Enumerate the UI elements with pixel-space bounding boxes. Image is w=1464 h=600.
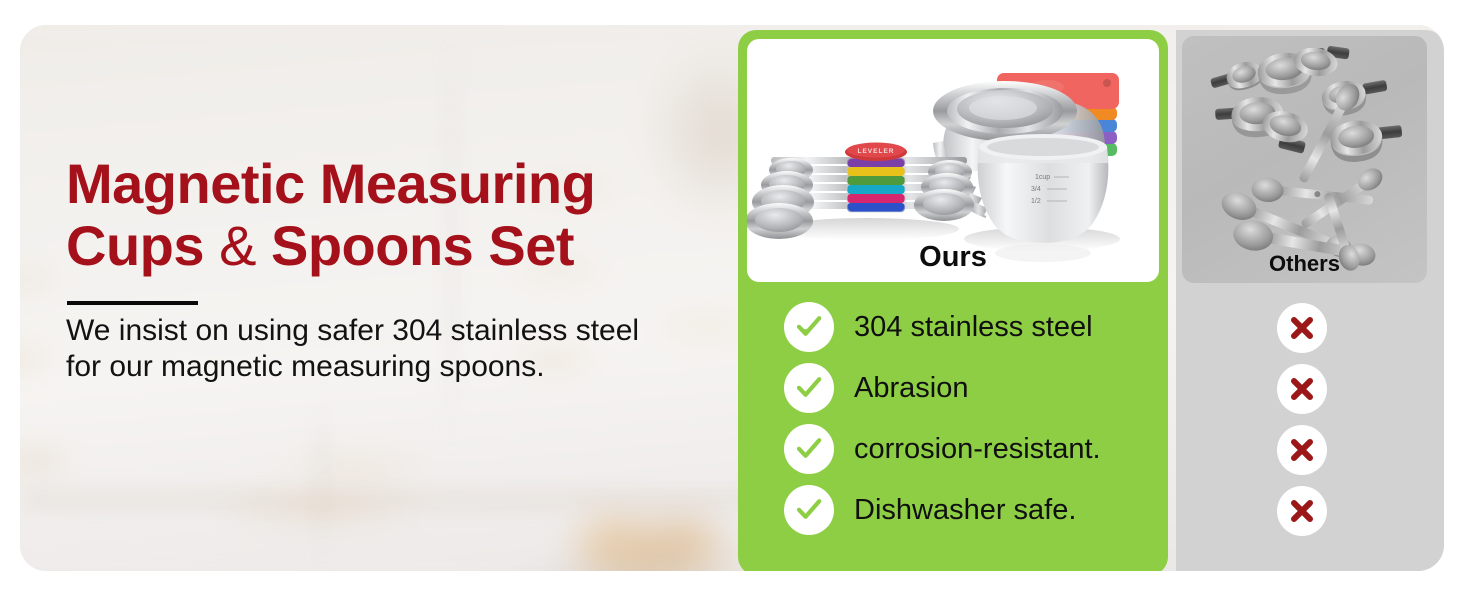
cross-row: [1176, 358, 1427, 419]
feature-label: Abrasion: [854, 371, 968, 405]
svg-text:3/4: 3/4: [1031, 186, 1041, 193]
feature-label: Dishwasher safe.: [854, 493, 1076, 527]
headline-line-2-part-b: Spoons Set: [256, 214, 574, 277]
background-counter-edge: [20, 495, 780, 509]
others-panel: Others: [1176, 30, 1444, 571]
promo-banner: Magnetic Measuring Cups & Spoons Set We …: [20, 25, 1444, 571]
feature-row: corrosion-resistant.: [738, 418, 1168, 479]
svg-text:1/2: 1/2: [1031, 198, 1041, 205]
headline-line-1: Magnetic Measuring: [66, 152, 595, 215]
competitor-measuring-set-illustration: [1182, 36, 1427, 283]
feature-row: Dishwasher safe.: [738, 479, 1168, 540]
cross-row: [1176, 419, 1427, 480]
cross-icon: [1277, 425, 1327, 475]
cross-row: [1176, 480, 1427, 541]
feature-row: 304 stainless steel: [738, 296, 1168, 357]
leveler-label: LEVELER: [858, 148, 895, 155]
cross-icon: [1277, 364, 1327, 414]
svg-text:1cup: 1cup: [1035, 174, 1050, 181]
ours-panel: 1cup 3/4 1/2: [738, 30, 1168, 571]
leveler-cap: LEVELER: [845, 143, 907, 162]
others-label: Others: [1182, 251, 1427, 277]
check-icon: [784, 424, 834, 474]
title-divider: [67, 301, 198, 305]
cross-icon: [1277, 303, 1327, 353]
cross-icon: [1277, 486, 1327, 536]
check-icon: [784, 363, 834, 413]
ampersand: &: [219, 214, 256, 277]
ours-product-photo: 1cup 3/4 1/2: [747, 39, 1159, 282]
subcopy-text: We insist on using safer 304 stainless s…: [66, 313, 666, 385]
background-seam-secondary: [320, 385, 323, 571]
others-product-photo: Others: [1182, 36, 1427, 283]
others-feature-list: [1176, 297, 1427, 541]
feature-row: Abrasion: [738, 357, 1168, 418]
headline-line-2-part-a: Cups: [66, 214, 219, 277]
ours-feature-list: 304 stainless steel Abrasion corrosion-r…: [738, 296, 1168, 540]
ours-label: Ours: [747, 241, 1159, 274]
check-icon: [784, 302, 834, 352]
feature-label: corrosion-resistant.: [854, 432, 1101, 466]
check-icon: [784, 485, 834, 535]
copy-block: Magnetic Measuring Cups & Spoons Set We …: [66, 153, 686, 385]
feature-label: 304 stainless steel: [854, 310, 1093, 344]
page-title: Magnetic Measuring Cups & Spoons Set: [66, 153, 686, 277]
cross-row: [1176, 297, 1427, 358]
